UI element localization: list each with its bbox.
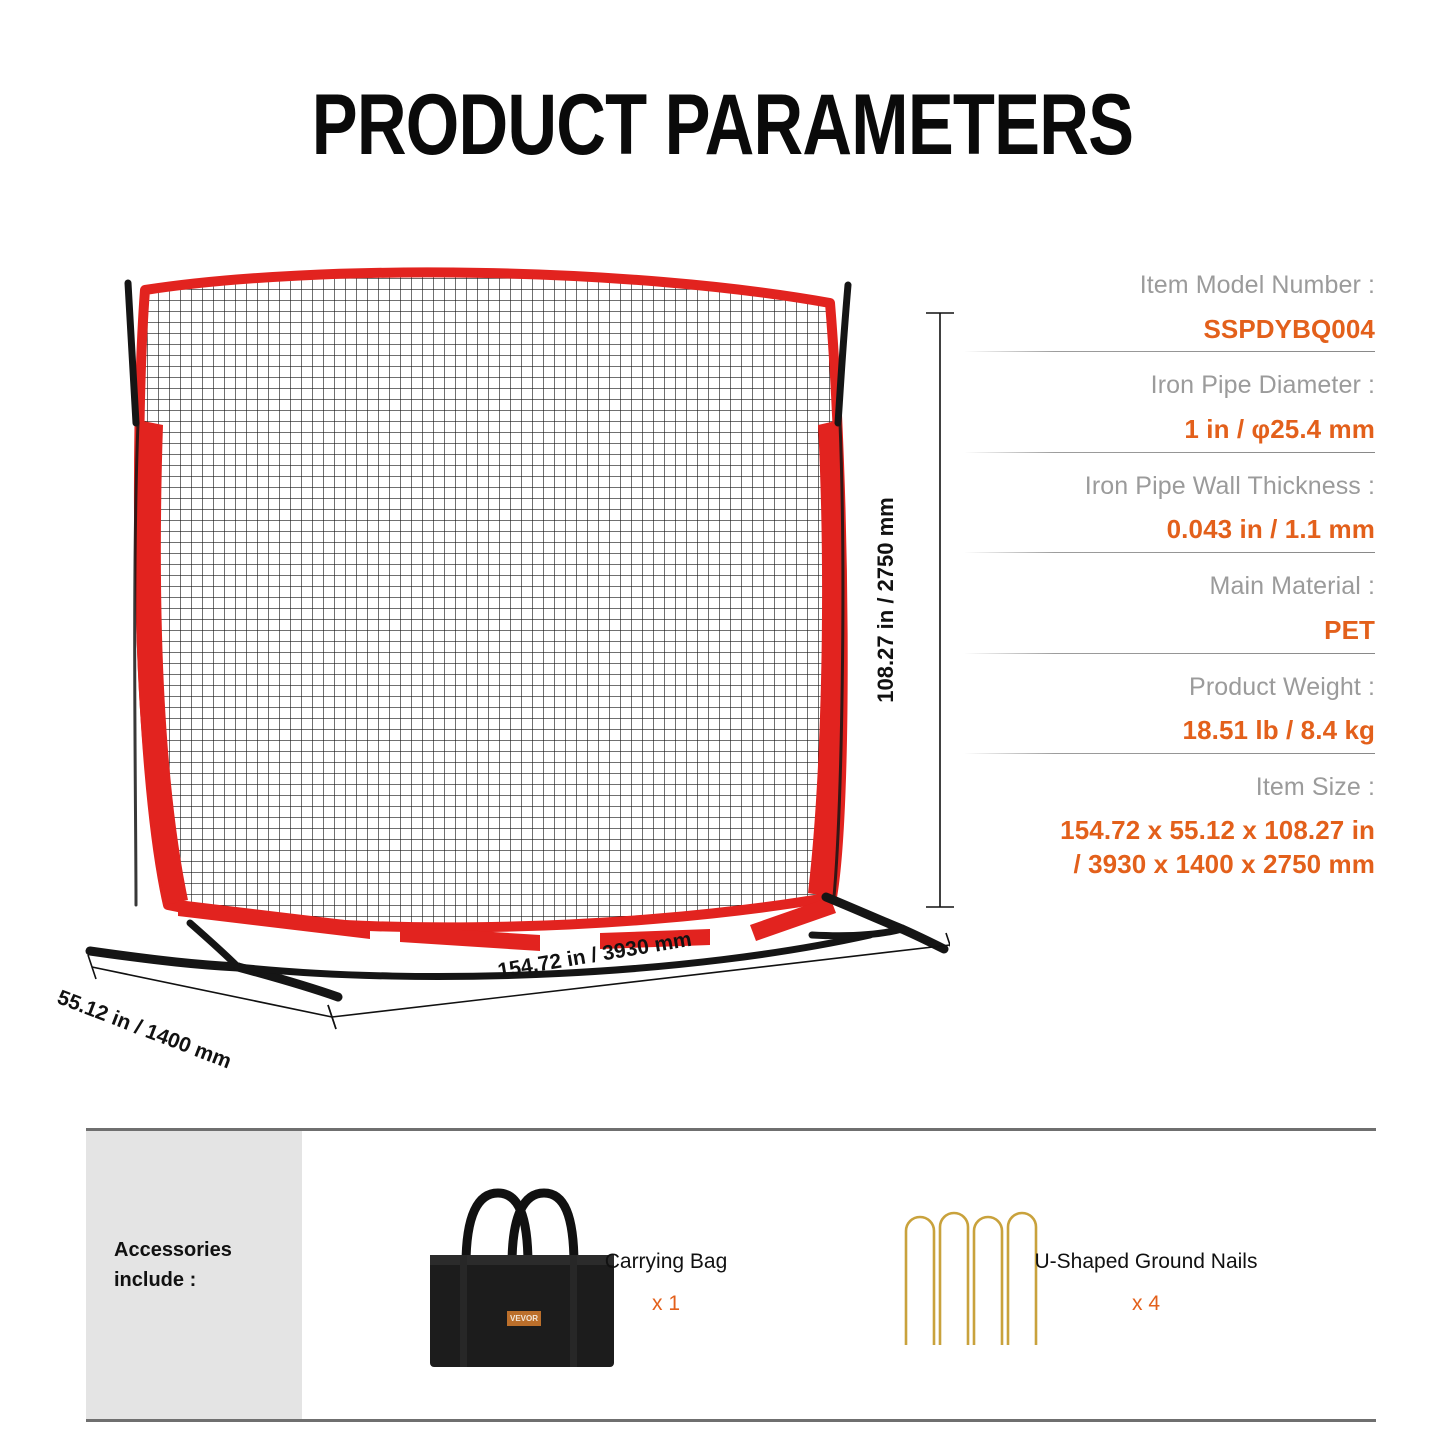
accessory-name: Carrying Bag bbox=[536, 1249, 796, 1274]
spec-label: Item Size : bbox=[965, 770, 1375, 806]
spec-row-pipe-diameter: Iron Pipe Diameter : 1 in / φ25.4 mm bbox=[965, 351, 1375, 451]
product-parameters-page: PRODUCT PARAMETERS bbox=[0, 0, 1445, 1445]
accessory-item-carrying-bag: VEVOR Carrying Bag x 1 bbox=[386, 1131, 806, 1419]
spec-row-main-material: Main Material : PET bbox=[965, 552, 1375, 652]
page-title: PRODUCT PARAMETERS bbox=[145, 82, 1301, 168]
net-mesh bbox=[120, 255, 880, 955]
spec-value-line-2: / 3930 x 1400 x 2750 mm bbox=[965, 847, 1375, 881]
dimension-label-height: 108.27 in / 2750 mm bbox=[873, 497, 899, 702]
spec-row-model: Item Model Number : SSPDYBQ004 bbox=[965, 268, 1375, 351]
spec-value: PET bbox=[965, 612, 1375, 649]
spec-label: Main Material : bbox=[965, 569, 1375, 605]
spec-value: SSPDYBQ004 bbox=[965, 311, 1375, 348]
accessories-section: Accessories include : VEVOR Carrying Bag… bbox=[86, 1128, 1376, 1422]
spec-row-product-weight: Product Weight : 18.51 lb / 8.4 kg bbox=[965, 653, 1375, 753]
spec-label: Iron Pipe Wall Thickness : bbox=[965, 469, 1375, 505]
accessories-label-panel: Accessories include : bbox=[86, 1131, 302, 1419]
specification-table: Item Model Number : SSPDYBQ004 Iron Pipe… bbox=[965, 268, 1375, 885]
carrying-bag-caption: Carrying Bag x 1 bbox=[536, 1249, 796, 1316]
spec-value-line-1: 154.72 x 55.12 x 108.27 in bbox=[965, 813, 1375, 847]
accessory-item-ground-nails: U-Shaped Ground Nails x 4 bbox=[846, 1131, 1346, 1419]
spec-row-item-size: Item Size : 154.72 x 55.12 x 108.27 in /… bbox=[965, 753, 1375, 885]
spec-value: 18.51 lb / 8.4 kg bbox=[965, 712, 1375, 749]
accessories-heading: Accessories include : bbox=[114, 1235, 294, 1295]
spec-value: 0.043 in / 1.1 mm bbox=[965, 511, 1375, 548]
accessories-bottom-rule bbox=[86, 1419, 1376, 1422]
accessory-name: U-Shaped Ground Nails bbox=[1016, 1249, 1276, 1274]
spec-label: Iron Pipe Diameter : bbox=[965, 368, 1375, 404]
accessory-qty: x 1 bbox=[536, 1292, 796, 1316]
svg-text:VEVOR: VEVOR bbox=[510, 1314, 538, 1323]
spec-label: Item Model Number : bbox=[965, 268, 1375, 304]
product-illustration bbox=[70, 245, 950, 1055]
height-dimension-line bbox=[920, 295, 960, 925]
ground-nails-caption: U-Shaped Ground Nails x 4 bbox=[1016, 1249, 1276, 1316]
spec-value: 1 in / φ25.4 mm bbox=[965, 411, 1375, 448]
spec-row-pipe-wall-thickness: Iron Pipe Wall Thickness : 0.043 in / 1.… bbox=[965, 452, 1375, 552]
accessory-qty: x 4 bbox=[1016, 1292, 1276, 1316]
spec-label: Product Weight : bbox=[965, 670, 1375, 706]
